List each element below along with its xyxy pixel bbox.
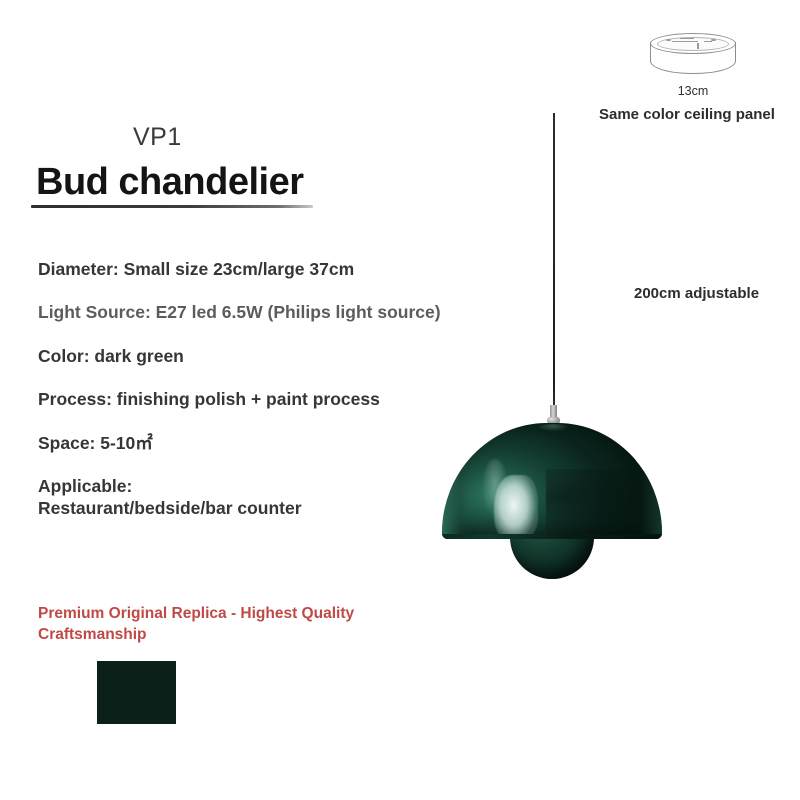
lamp-dome [442, 423, 662, 539]
spec-line-diameter: Diameter: Small size 23cm/large 37cm [38, 258, 508, 280]
canopy-screw-icon [711, 39, 716, 41]
lamp-dome-left-rim [442, 441, 468, 539]
canopy-dimension-label: 13cm [651, 84, 735, 98]
canopy-caption: Same color ceiling panel [599, 106, 775, 123]
suspension-cord [553, 113, 555, 430]
canopy-screw-icon [666, 39, 671, 41]
canopy-detail-line [672, 41, 698, 42]
cord-length-label: 200cm adjustable [634, 285, 759, 302]
lamp-dome-bottom-edge [442, 534, 662, 539]
model-code: VP1 [133, 123, 182, 152]
spec-line-process: Process: finishing polish + paint proces… [38, 388, 508, 410]
spec-list: Diameter: Small size 23cm/large 37cm Lig… [38, 258, 508, 520]
page-title: Bud chandelier [36, 161, 304, 204]
lamp-dome-highlight [494, 475, 538, 539]
pendant-lamp-image [442, 423, 662, 588]
title-underline [31, 205, 313, 208]
canopy-detail-line [704, 41, 712, 42]
canopy-detail-line [697, 43, 699, 49]
color-swatch [97, 661, 176, 724]
lamp-dome-top-sheen [538, 424, 568, 431]
spec-line-color: Color: dark green [38, 345, 508, 367]
tagline: Premium Original Replica - Highest Quali… [38, 604, 383, 646]
product-infographic: VP1 Bud chandelier Diameter: Small size … [0, 0, 800, 800]
spec-line-applicable-label: Applicable: [38, 475, 508, 497]
spec-line-space: Space: 5-10㎡ [38, 432, 508, 454]
lamp-dome-right-rim [632, 445, 662, 539]
ceiling-canopy-illustration [650, 33, 736, 83]
canopy-detail-line [680, 38, 694, 39]
canopy-dimension-line: 13cm [651, 86, 735, 100]
spec-line-applicable-value: Restaurant/bedside/bar counter [38, 497, 508, 519]
spec-line-light-source: Light Source: E27 led 6.5W (Philips ligh… [38, 301, 508, 323]
